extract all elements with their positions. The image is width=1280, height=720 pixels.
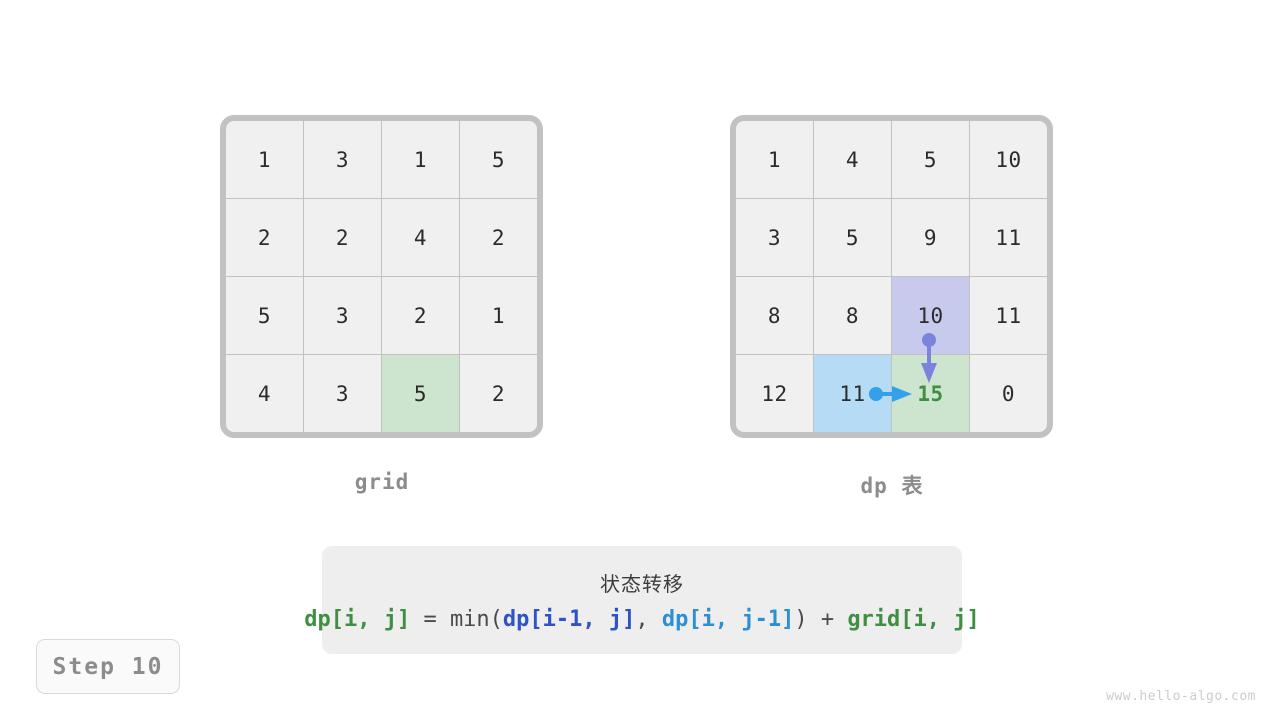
grid-cell-value: 1	[492, 304, 505, 328]
formula-token-0: dp[i, j]	[304, 607, 410, 632]
dp-cell-value: 0	[1002, 382, 1015, 406]
dp-cell-value: 10	[917, 304, 943, 328]
dp-cell-value: 9	[924, 226, 937, 250]
grid-cell-value: 1	[258, 148, 271, 172]
watermark: www.hello-algo.com	[1106, 689, 1256, 704]
dp-cell-value: 5	[924, 148, 937, 172]
grid-cell-0-1: 3	[304, 121, 381, 198]
dp-cell-3-2: 15	[892, 355, 969, 432]
dp-cell-value: 11	[839, 382, 865, 406]
step-badge: Step 10	[36, 639, 180, 694]
grid-cell-2-3: 1	[460, 277, 537, 354]
grid-cell-value: 2	[414, 304, 427, 328]
formula-token-3: ,	[635, 607, 662, 632]
grid-cell-value: 5	[414, 382, 427, 406]
grid-caption: grid	[202, 470, 562, 494]
dp-cell-0-1: 4	[814, 121, 891, 198]
grid-matrix-panel: 1315224253214352	[220, 115, 543, 438]
dp-cell-3-0: 12	[736, 355, 813, 432]
dp-cell-3-3: 0	[970, 355, 1047, 432]
grid-cell-3-0: 4	[226, 355, 303, 432]
grid-cell-value: 5	[258, 304, 271, 328]
grid-cell-0-3: 5	[460, 121, 537, 198]
dp-cell-2-0: 8	[736, 277, 813, 354]
dp-cell-1-2: 9	[892, 199, 969, 276]
grid-cell-1-2: 4	[382, 199, 459, 276]
grid-cell-value: 5	[492, 148, 505, 172]
grid-cell-1-0: 2	[226, 199, 303, 276]
dp-cell-value: 5	[846, 226, 859, 250]
grid-cell-value: 2	[258, 226, 271, 250]
dp-cell-value: 10	[995, 148, 1021, 172]
grid-cell-value: 2	[336, 226, 349, 250]
dp-cell-2-3: 11	[970, 277, 1047, 354]
grid-cell-0-2: 1	[382, 121, 459, 198]
dp-cell-value: 3	[768, 226, 781, 250]
grid-cell-value: 2	[492, 382, 505, 406]
grid-cell-value: 4	[258, 382, 271, 406]
dp-cell-value: 11	[995, 226, 1021, 250]
dp-cell-2-2: 10	[892, 277, 969, 354]
grid-cell-value: 4	[414, 226, 427, 250]
grid-cell-value: 3	[336, 304, 349, 328]
formula-token-2: dp[i-1, j]	[503, 607, 635, 632]
grid-cell-value: 3	[336, 148, 349, 172]
dp-cell-value: 8	[846, 304, 859, 328]
grid-cell-1-3: 2	[460, 199, 537, 276]
grid-cell-3-3: 2	[460, 355, 537, 432]
dp-cell-value: 8	[768, 304, 781, 328]
state-transition-box: 状态转移 dp[i, j] = min(dp[i-1, j], dp[i, j-…	[322, 546, 962, 654]
formula-token-4: dp[i, j-1]	[662, 607, 794, 632]
grid-cell-3-1: 3	[304, 355, 381, 432]
grid-cell-value: 3	[336, 382, 349, 406]
dp-cell-3-1: 11	[814, 355, 891, 432]
dp-cell-value: 11	[995, 304, 1021, 328]
dp-matrix-panel: 14510359118810111211150	[730, 115, 1053, 438]
dp-cell-1-0: 3	[736, 199, 813, 276]
grid-cell-3-2: 5	[382, 355, 459, 432]
grid-cell-2-0: 5	[226, 277, 303, 354]
dp-cell-2-1: 8	[814, 277, 891, 354]
dp-cell-value: 12	[761, 382, 787, 406]
grid-cell-value: 1	[414, 148, 427, 172]
dp-cell-value: 1	[768, 148, 781, 172]
formula-token-5: ) +	[794, 607, 847, 632]
dp-cell-value: 15	[917, 382, 943, 406]
grid-matrix: 1315224253214352	[220, 115, 543, 438]
dp-cell-0-0: 1	[736, 121, 813, 198]
grid-cell-2-2: 2	[382, 277, 459, 354]
state-transition-title: 状态转移	[600, 568, 684, 597]
dp-cell-1-3: 11	[970, 199, 1047, 276]
formula-token-1: = min(	[410, 607, 503, 632]
dp-matrix: 14510359118810111211150	[730, 115, 1053, 438]
grid-cell-2-1: 3	[304, 277, 381, 354]
dp-cell-0-2: 5	[892, 121, 969, 198]
dp-caption: dp 表	[712, 470, 1072, 500]
grid-cell-value: 2	[492, 226, 505, 250]
dp-cell-1-1: 5	[814, 199, 891, 276]
formula-token-6: grid[i, j]	[847, 607, 979, 632]
state-transition-formula: dp[i, j] = min(dp[i-1, j], dp[i, j-1]) +…	[304, 607, 980, 632]
dp-cell-value: 4	[846, 148, 859, 172]
dp-cell-0-3: 10	[970, 121, 1047, 198]
grid-cell-1-1: 2	[304, 199, 381, 276]
grid-cell-0-0: 1	[226, 121, 303, 198]
